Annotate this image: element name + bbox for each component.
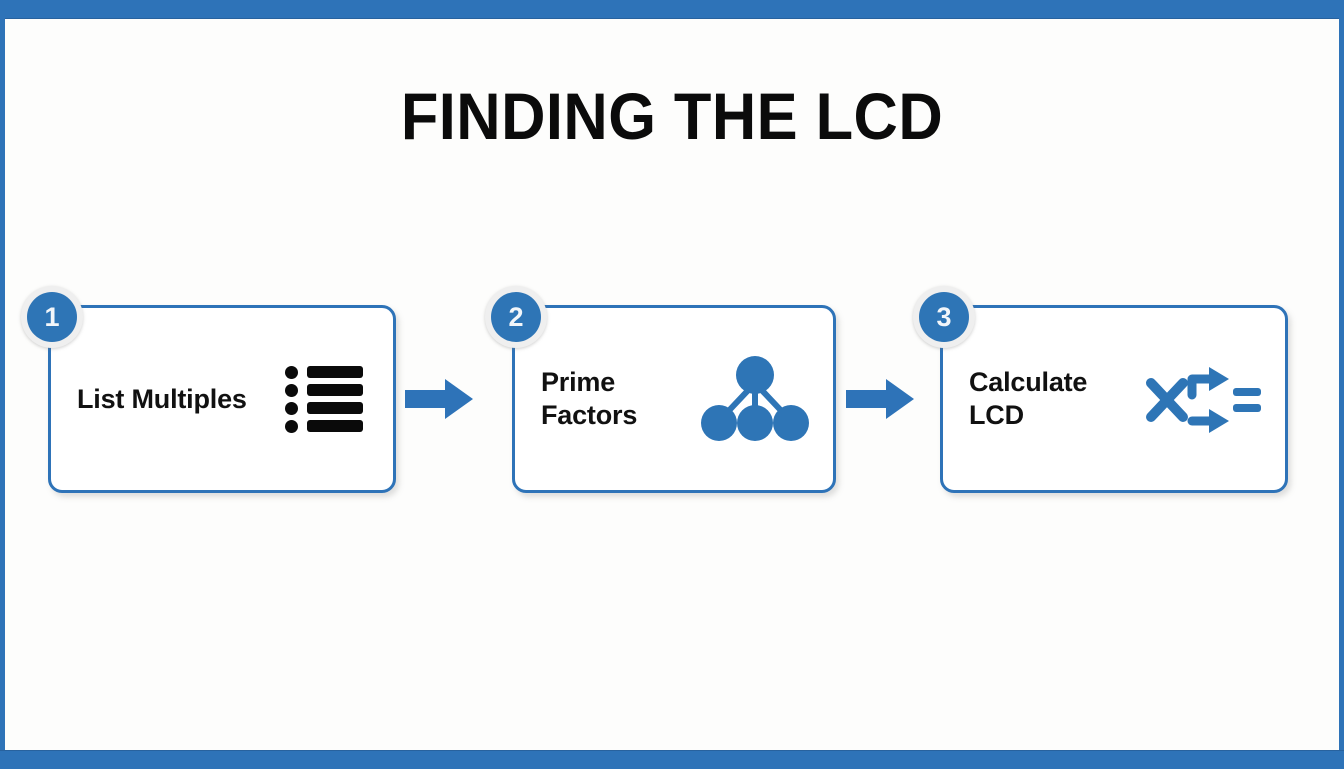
step-badge: 2 xyxy=(485,286,547,348)
slide-border-bottom xyxy=(0,750,1344,769)
list-bar xyxy=(307,402,363,414)
list-bar xyxy=(307,384,363,396)
list-row xyxy=(285,420,371,433)
step-card-list-multiples[interactable]: List Multiples xyxy=(48,305,396,493)
list-bullet-dot xyxy=(285,420,298,433)
step-label: Prime Factors xyxy=(541,366,637,432)
list-bar xyxy=(307,366,363,378)
bulleted-list-icon xyxy=(285,361,371,438)
step-number: 1 xyxy=(27,292,77,342)
arrow-right-icon xyxy=(846,377,916,421)
step-card-body: Calculate LCD xyxy=(943,308,1285,490)
list-row xyxy=(285,384,371,397)
step-badge: 1 xyxy=(21,286,83,348)
factor-tree-icon xyxy=(699,353,811,445)
page-title: FINDING THE LCD xyxy=(47,78,1297,154)
step-label: Calculate LCD xyxy=(969,366,1087,432)
step-card-calculate-lcd[interactable]: Calculate LCD xyxy=(940,305,1288,493)
list-row xyxy=(285,402,371,415)
step-number: 3 xyxy=(919,292,969,342)
arrow-right-icon xyxy=(405,377,475,421)
slide: FINDING THE LCD List Multiples xyxy=(0,0,1344,768)
step-card-body: List Multiples xyxy=(51,308,393,490)
list-row xyxy=(285,366,371,379)
step-number: 2 xyxy=(491,292,541,342)
list-bullet-dot xyxy=(285,384,298,397)
process-flow: List Multiples xyxy=(0,305,1344,495)
list-bar xyxy=(307,420,363,432)
multiply-equals-icon xyxy=(1145,359,1263,439)
step-card-prime-factors[interactable]: Prime Factors 2 xyxy=(512,305,836,493)
list-bullet-dot xyxy=(285,402,298,415)
step-badge: 3 xyxy=(913,286,975,348)
step-card-body: Prime Factors xyxy=(515,308,833,490)
list-bullet-dot xyxy=(285,366,298,379)
slide-border-top xyxy=(0,0,1344,19)
step-label: List Multiples xyxy=(77,383,247,416)
